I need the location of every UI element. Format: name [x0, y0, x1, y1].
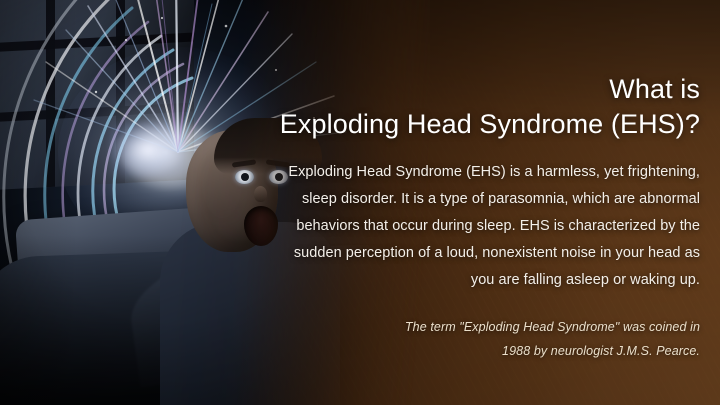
page-title: What is Exploding Head Syndrome (EHS)?: [200, 0, 700, 142]
footnote-line-1: The term "Exploding Head Syndrome" was c…: [200, 315, 700, 339]
title-line-2: Exploding Head Syndrome (EHS)?: [200, 107, 700, 142]
title-line-1: What is: [200, 72, 700, 107]
body-line-5: you are falling asleep or waking up.: [200, 267, 700, 294]
footnote-line-2: 1988 by neurologist J.M.S. Pearce.: [200, 339, 700, 363]
body-line-1: Exploding Head Syndrome (EHS) is a harml…: [200, 159, 700, 186]
body-paragraph: Exploding Head Syndrome (EHS) is a harml…: [200, 142, 700, 294]
body-line-2: sleep disorder. It is a type of parasomn…: [200, 186, 700, 213]
body-line-3: behaviors that occur during sleep. EHS i…: [200, 213, 700, 240]
slide-canvas: What is Exploding Head Syndrome (EHS)? E…: [0, 0, 720, 405]
text-column: What is Exploding Head Syndrome (EHS)? E…: [200, 0, 700, 363]
body-line-4: sudden perception of a loud, nonexistent…: [200, 240, 700, 267]
footnote: The term "Exploding Head Syndrome" was c…: [200, 294, 700, 363]
